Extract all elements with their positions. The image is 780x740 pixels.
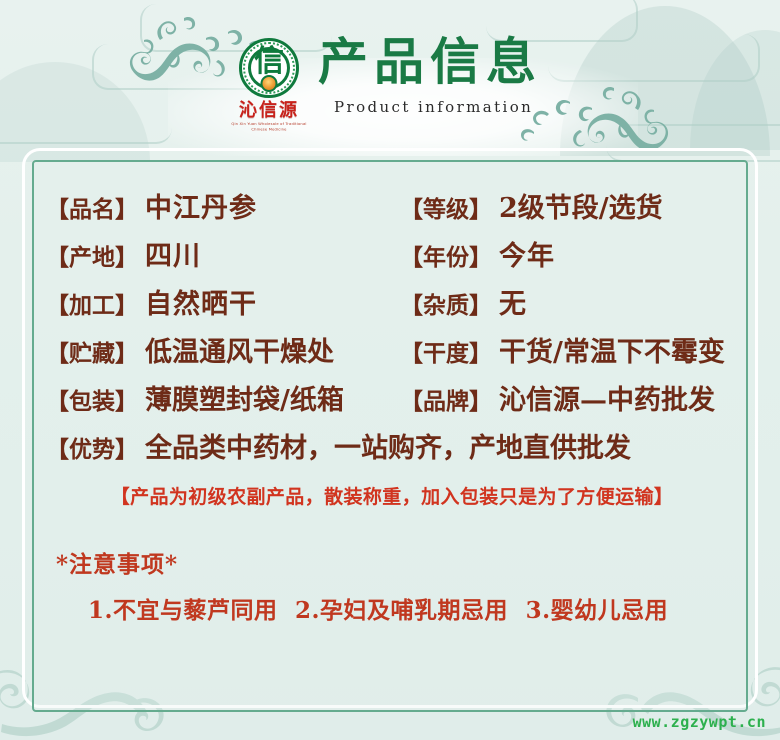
spec-value: 干货/常温下不霉变 — [499, 330, 725, 369]
attention-item: 3.婴幼儿忌用 — [526, 597, 669, 624]
spec-label: 【年份】 — [400, 238, 492, 272]
spec-label: 【品名】 — [46, 190, 138, 224]
spec-cell: 【品牌】 沁信源—中药批发 — [400, 378, 715, 417]
spec-label: 【包装】 — [46, 382, 138, 416]
spec-row: 【品名】 中江丹参 【等级】 2级节段/选货 — [46, 186, 738, 234]
advantage-row: 【优势】 全品类中药材，一站购齐，产地直供批发 — [46, 426, 738, 476]
spec-label: 【品牌】 — [400, 382, 492, 416]
spec-cell: 【年份】 今年 — [400, 234, 555, 273]
brand-name-en: Qin Xin Yuan Wholesale of Traditional Ch… — [228, 121, 311, 132]
spec-row: 【产地】 四川 【年份】 今年 — [46, 234, 738, 282]
spec-cell: 【等级】 2级节段/选货 — [400, 186, 663, 225]
spec-value: 自然晒干 — [145, 282, 257, 321]
emblem-orange-dot-icon — [261, 75, 278, 92]
page-title-group: 产品信息 Product information — [318, 34, 618, 116]
spec-label: 【杂质】 — [400, 286, 492, 320]
spec-cell: 【包装】 薄膜塑封袋/纸箱 — [46, 378, 400, 417]
spec-label: 【加工】 — [46, 286, 138, 320]
spec-value: 薄膜塑封袋/纸箱 — [145, 378, 344, 417]
spec-value: 沁信源—中药批发 — [499, 378, 715, 417]
spec-cell: 【加工】 自然晒干 — [46, 282, 400, 321]
spec-value: 今年 — [499, 234, 555, 273]
spec-row: 【加工】 自然晒干 【杂质】 无 — [46, 282, 738, 330]
spec-cell: 【贮藏】 低温通风干燥处 — [46, 330, 400, 369]
spec-value: 四川 — [145, 234, 201, 273]
spec-cell: 【干度】 干货/常温下不霉变 — [400, 330, 725, 369]
spec-value: 无 — [499, 282, 527, 321]
red-note: 【产品为初级农副产品，散装称重，加入包装只是为了方便运输】 — [46, 482, 738, 509]
spec-label: 【贮藏】 — [46, 334, 138, 368]
circular-seal-icon: 信 — [239, 38, 299, 98]
spec-label: 【等级】 — [400, 190, 492, 224]
emblem-character: 信 — [239, 47, 299, 77]
spec-label: 【干度】 — [400, 334, 492, 368]
spec-row: 【包装】 薄膜塑封袋/纸箱 【品牌】 沁信源—中药批发 — [46, 378, 738, 426]
brand-logo: 信 沁信源 Qin Xin Yuan Wholesale of Traditio… — [224, 38, 314, 138]
spec-cell: 【杂质】 无 — [400, 282, 527, 321]
site-watermark: www.zgzywpt.cn — [633, 713, 766, 731]
spec-value: 中江丹参 — [145, 186, 257, 225]
page-header: 信 沁信源 Qin Xin Yuan Wholesale of Traditio… — [0, 0, 780, 150]
attention-item: 1.不宜与藜芦同用 — [88, 597, 278, 624]
brand-name-cn: 沁信源 — [224, 101, 314, 121]
advantage-label: 【优势】 — [46, 430, 138, 464]
attention-item: 2.孕妇及哺乳期忌用 — [295, 597, 508, 624]
product-info-page: 信 沁信源 Qin Xin Yuan Wholesale of Traditio… — [0, 0, 780, 740]
page-subtitle: Product information — [334, 98, 618, 116]
spec-value: 2级节段/选货 — [499, 186, 663, 225]
page-title: 产品信息 — [318, 34, 618, 90]
spec-content: 【品名】 中江丹参 【等级】 2级节段/选货 【产地】 四川 【年份】 今年 【… — [32, 160, 748, 712]
spec-label: 【产地】 — [46, 238, 138, 272]
spec-cell: 【品名】 中江丹参 — [46, 186, 400, 225]
attention-list: 1.不宜与藜芦同用 2.孕妇及哺乳期忌用 3.婴幼儿忌用 — [88, 591, 738, 625]
spec-cell: 【优势】 全品类中药材，一站购齐，产地直供批发 — [46, 426, 631, 465]
attention-title: *注意事项* — [56, 545, 738, 579]
advantage-value: 全品类中药材，一站购齐，产地直供批发 — [145, 426, 631, 465]
spec-row: 【贮藏】 低温通风干燥处 【干度】 干货/常温下不霉变 — [46, 330, 738, 378]
spec-cell: 【产地】 四川 — [46, 234, 400, 273]
spec-value: 低温通风干燥处 — [145, 330, 334, 369]
